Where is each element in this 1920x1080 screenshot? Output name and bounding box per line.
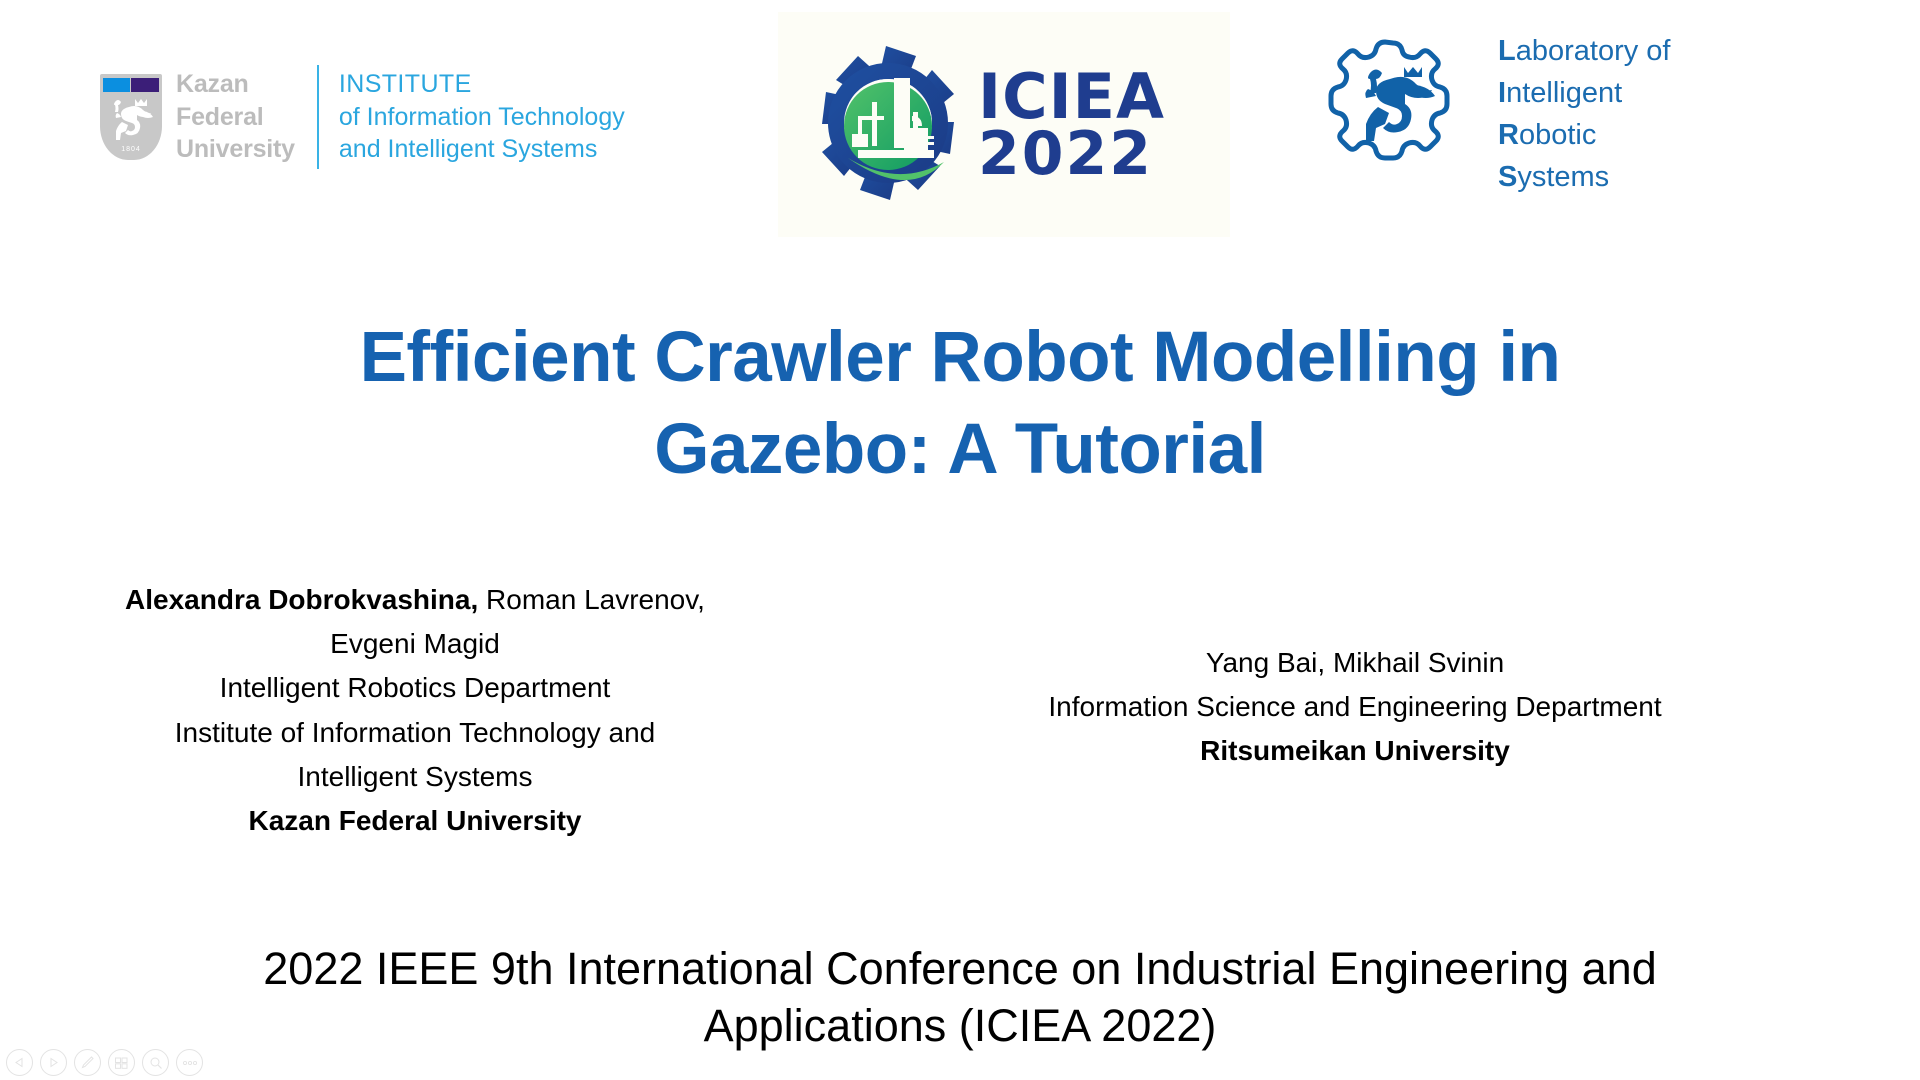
lirs-gear-dragon-icon — [1318, 37, 1468, 192]
kfu-name-block: Kazan Federal University — [176, 68, 295, 166]
itis-line-2: of Information Technology — [339, 101, 625, 134]
grid-icon — [114, 1056, 129, 1070]
lirs-line-4-initial: S — [1498, 161, 1517, 193]
annotate-button[interactable] — [74, 1049, 101, 1076]
authors-left-line-3: Intelligent Robotics Department — [70, 666, 760, 710]
authors-right-line-2: Information Science and Engineering Depa… — [950, 685, 1760, 729]
page-title-line-1: Efficient Crawler Robot Modelling in — [110, 312, 1810, 404]
next-slide-button[interactable] — [40, 1049, 67, 1076]
authors-left-line-4: Institute of Information Technology and — [70, 711, 760, 755]
lirs-line-2: Intelligent — [1498, 72, 1670, 114]
lirs-line-3-initial: R — [1498, 119, 1519, 151]
kfu-name-line-1: Kazan — [176, 68, 295, 101]
itis-name-block: INSTITUTE of Information Technology and … — [339, 68, 625, 166]
lirs-line-4-rest: ystems — [1517, 161, 1609, 193]
authors-left-affiliation: Kazan Federal University — [70, 799, 760, 843]
magnifier-icon — [149, 1056, 163, 1070]
lirs-line-2-initial: I — [1498, 77, 1506, 109]
conference-name-line-1: 2022 IEEE 9th International Conference o… — [40, 940, 1880, 997]
previous-slide-button[interactable] — [6, 1049, 33, 1076]
authors-row: Alexandra Dobrokvashina, Roman Lavrenov,… — [0, 578, 1920, 848]
authors-block-left: Alexandra Dobrokvashina, Roman Lavrenov,… — [70, 578, 760, 843]
lirs-line-3: Robotic — [1498, 114, 1670, 156]
authors-left-line-5: Intelligent Systems — [70, 755, 760, 799]
triangle-left-icon — [13, 1056, 26, 1069]
page-title: Efficient Crawler Robot Modelling in Gaz… — [110, 312, 1810, 497]
kfu-shield-year: 1804 — [100, 146, 162, 153]
kfu-name-line-3: University — [176, 133, 295, 166]
authors-left-line-1: Alexandra Dobrokvashina, Roman Lavrenov, — [70, 578, 760, 622]
authors-block-right: Yang Bai, Mikhail Svinin Information Sci… — [950, 641, 1760, 774]
conference-name: 2022 IEEE 9th International Conference o… — [40, 940, 1880, 1054]
iciea-wordmark-text: ICIEA — [978, 68, 1165, 126]
more-options-button[interactable] — [176, 1049, 203, 1076]
iciea-logo-plate: ICIEA 2022 — [778, 12, 1230, 237]
iciea-wordmark-block: ICIEA 2022 — [978, 68, 1165, 183]
lirs-line-1-initial: L — [1498, 35, 1516, 67]
lirs-line-2-rest: ntelligent — [1506, 77, 1622, 109]
page-title-line-2: Gazebo: A Tutorial — [110, 404, 1810, 496]
lirs-line-1-rest: aboratory of — [1516, 35, 1671, 67]
ellipsis-icon — [182, 1060, 198, 1066]
lockup-divider — [317, 65, 319, 169]
viewer-toolbar — [6, 1049, 203, 1076]
conference-name-line-2: Applications (ICIEA 2022) — [40, 997, 1880, 1054]
authors-left-line-2: Evgeni Magid — [70, 622, 760, 666]
kfu-shield-icon: 1804 — [100, 74, 162, 160]
authors-left-coauthors: Roman Lavrenov, — [478, 584, 705, 615]
lirs-logo-lockup: Laboratory of Intelligent Robotic System… — [1318, 30, 1670, 198]
authors-right-affiliation: Ritsumeikan University — [950, 729, 1760, 773]
kfu-name-line-2: Federal — [176, 101, 295, 134]
lirs-line-3-rest: obotic — [1519, 119, 1596, 151]
pen-icon — [80, 1055, 95, 1070]
iciea-year-text: 2022 — [978, 126, 1165, 182]
itis-line-1: INSTITUTE — [339, 68, 625, 101]
zoom-button[interactable] — [142, 1049, 169, 1076]
lirs-line-4: Systems — [1498, 156, 1670, 198]
iciea-gear-factory-icon — [808, 40, 968, 210]
authors-right-line-1: Yang Bai, Mikhail Svinin — [950, 641, 1760, 685]
authors-left-lead-author: Alexandra Dobrokvashina, — [125, 584, 478, 615]
lirs-text-block: Laboratory of Intelligent Robotic System… — [1498, 30, 1670, 198]
kfu-itis-logo-lockup: 1804 Kazan Federal University INSTITUTE … — [100, 62, 625, 172]
triangle-right-icon — [47, 1056, 60, 1069]
lirs-line-1: Laboratory of — [1498, 30, 1670, 72]
slide-overview-button[interactable] — [108, 1049, 135, 1076]
header-logo-band: 1804 Kazan Federal University INSTITUTE … — [0, 0, 1920, 240]
itis-line-3: and Intelligent Systems — [339, 133, 625, 166]
